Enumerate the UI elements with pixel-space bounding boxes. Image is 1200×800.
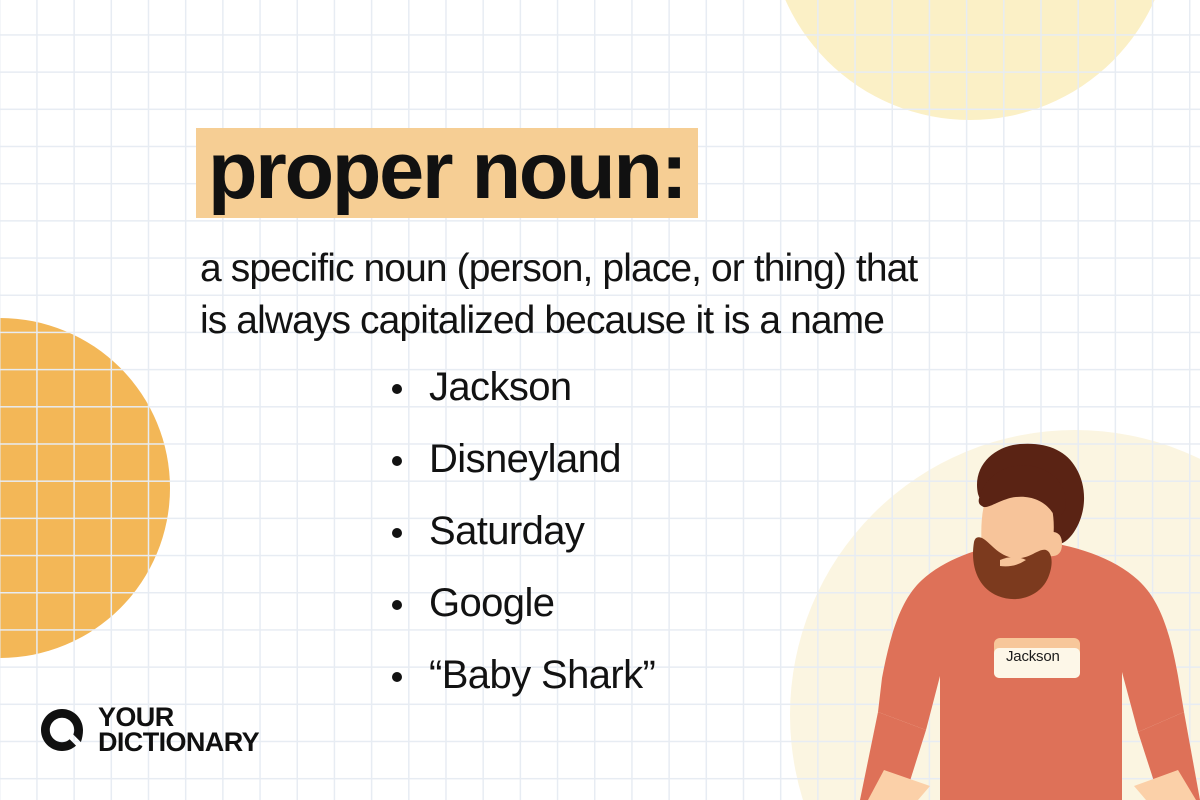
bullet-dot-icon bbox=[392, 384, 402, 394]
bullet-dot-icon bbox=[392, 600, 402, 610]
definition-text: a specific noun (person, place, or thing… bbox=[200, 243, 1070, 347]
nametag-label: Jackson bbox=[1006, 648, 1060, 665]
logo-wordmark: YOUR DICTIONARY bbox=[98, 705, 259, 755]
bullet-dot-icon bbox=[392, 456, 402, 466]
bullet-dot-icon bbox=[392, 672, 402, 682]
poster-canvas: Jackson proper noun: a specific noun (pe… bbox=[0, 0, 1200, 800]
example-label: “Baby Shark” bbox=[429, 653, 655, 697]
examples-list: Jackson Disneyland Saturday Google “Baby… bbox=[392, 362, 655, 722]
yourdictionary-q-icon bbox=[38, 706, 86, 754]
brand-logo[interactable]: YOUR DICTIONARY bbox=[38, 705, 259, 755]
list-item: “Baby Shark” bbox=[392, 650, 655, 722]
list-item: Saturday bbox=[392, 506, 655, 578]
content-layer: proper noun: a specific noun (person, pl… bbox=[0, 0, 1200, 800]
bullet-dot-icon bbox=[392, 528, 402, 538]
title-block: proper noun: bbox=[196, 128, 698, 218]
example-label: Jackson bbox=[429, 365, 572, 409]
list-item: Disneyland bbox=[392, 434, 655, 506]
title-highlight-box: proper noun: bbox=[196, 128, 698, 218]
definition-line-2: is always capitalized because it is a na… bbox=[200, 295, 1070, 347]
example-label: Google bbox=[429, 581, 554, 625]
example-label: Disneyland bbox=[429, 437, 621, 481]
definition-line-1: a specific noun (person, place, or thing… bbox=[200, 243, 1070, 295]
example-label: Saturday bbox=[429, 509, 584, 553]
list-item: Google bbox=[392, 578, 655, 650]
logo-line-2: DICTIONARY bbox=[98, 730, 259, 755]
list-item: Jackson bbox=[392, 362, 655, 434]
page-title: proper noun: bbox=[208, 131, 686, 212]
